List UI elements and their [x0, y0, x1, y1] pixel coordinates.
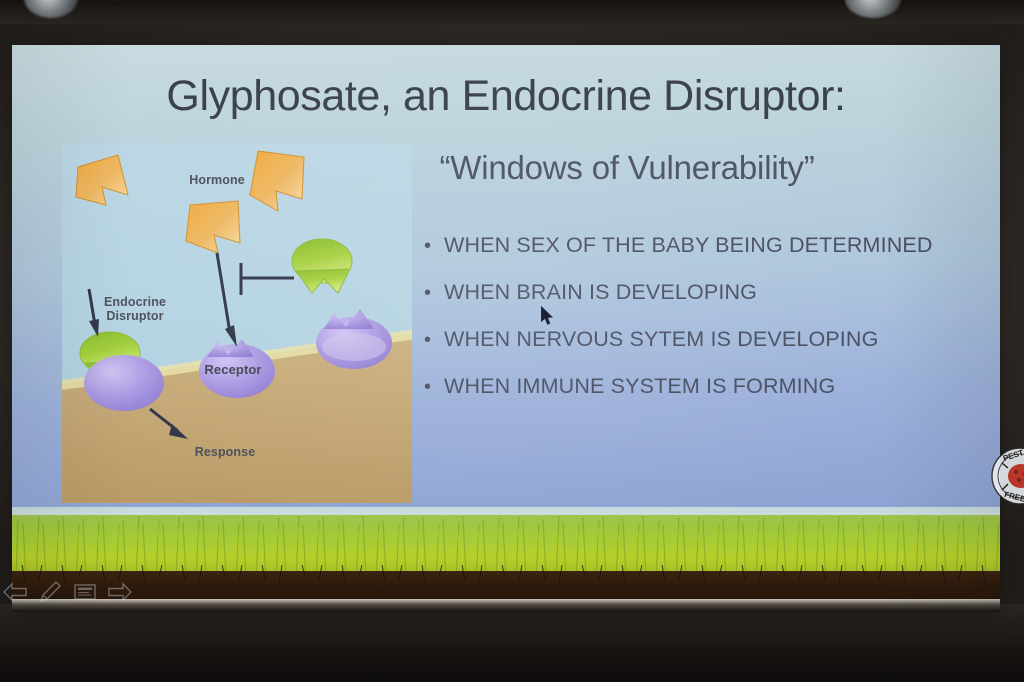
bullet-marker-icon: • — [424, 236, 444, 256]
room-floor-band — [0, 604, 1024, 682]
mouse-cursor-icon — [541, 306, 555, 326]
bullet-marker-icon: • — [424, 377, 444, 397]
previous-slide-icon[interactable] — [2, 580, 28, 604]
diagram-label-hormone: Hormone — [174, 173, 260, 187]
projected-slide[interactable]: Glyphosate, an Endocrine Disruptor: “Win… — [12, 45, 1000, 612]
list-item: • WHEN NERVOUS SYTEM IS DEVELOPING — [424, 327, 1000, 352]
slide-menu-icon[interactable] — [72, 580, 98, 604]
list-item-label: WHEN SEX OF THE BABY BEING DETERMINED — [444, 233, 933, 258]
presentation-photo-screenshot: Glyphosate, an Endocrine Disruptor: “Win… — [0, 0, 1024, 682]
disruptor-label-line1: Endocrine — [104, 295, 166, 309]
list-item: • WHEN BRAIN IS DEVELOPING — [424, 280, 1000, 305]
bullet-marker-icon: • — [424, 330, 444, 350]
hormone-shape — [76, 151, 304, 253]
list-item-label: WHEN NERVOUS SYTEM IS DEVELOPING — [444, 327, 879, 352]
root-strands — [12, 565, 1000, 589]
receptor-shape — [84, 309, 392, 411]
presentation-toolbar[interactable] — [2, 580, 133, 604]
photo-lower-edge — [12, 599, 1000, 612]
page-title: Glyphosate, an Endocrine Disruptor: — [12, 72, 1000, 121]
crop-field-photo — [12, 507, 1000, 612]
bullet-marker-icon: • — [424, 283, 444, 303]
endocrine-disruptor-receptor-diagram: Hormone Endocrine Disruptor Receptor Res… — [62, 143, 412, 503]
disruptor-label-line2: Disruptor — [106, 309, 163, 323]
pen-annotate-icon[interactable] — [37, 580, 63, 604]
bullet-list: • WHEN SEX OF THE BABY BEING DETERMINED … — [424, 233, 1000, 421]
list-item-label: WHEN BRAIN IS DEVELOPING — [444, 280, 757, 305]
list-item-label: WHEN IMMUNE SYSTEM IS FORMING — [444, 374, 835, 399]
list-item: • WHEN IMMUNE SYSTEM IS FORMING — [424, 374, 1000, 399]
diagram-label-endocrine-disruptor: Endocrine Disruptor — [92, 295, 178, 324]
pest-free-badge: PEST FREE — [990, 446, 1024, 506]
diagram-label-response: Response — [182, 445, 268, 459]
diagram-label-receptor: Receptor — [190, 363, 276, 378]
list-item: • WHEN SEX OF THE BABY BEING DETERMINED — [424, 233, 1000, 258]
next-slide-icon[interactable] — [107, 580, 133, 604]
